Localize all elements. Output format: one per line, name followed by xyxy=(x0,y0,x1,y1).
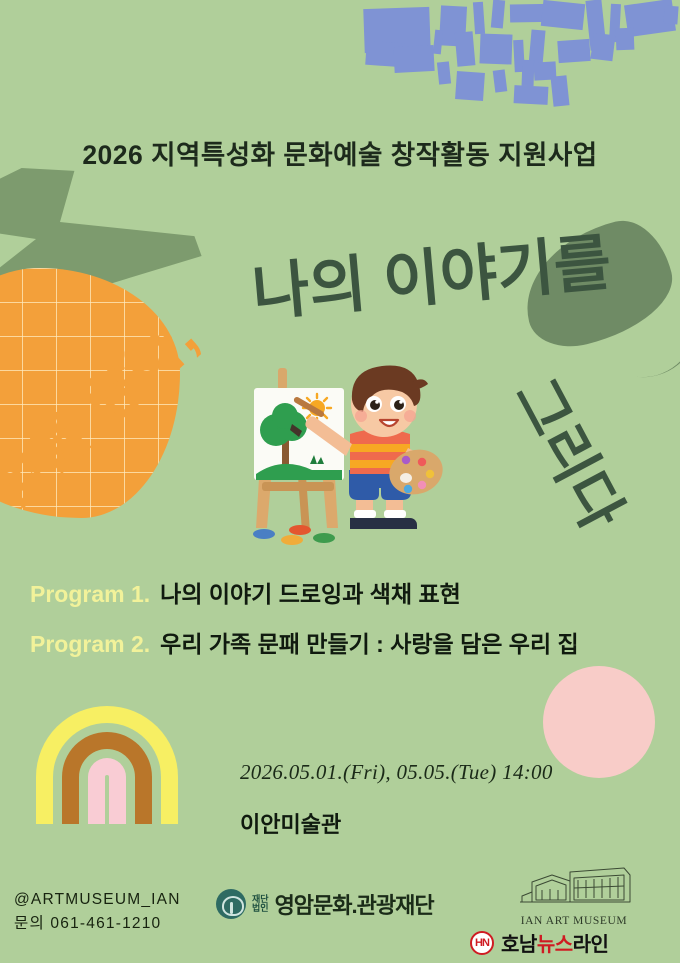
instagram-handle[interactable]: @ARTMUSEUM_IAN xyxy=(14,888,181,912)
program-row: Program 1. 나의 이야기 드로잉과 색채 표현 xyxy=(30,575,650,609)
event-venue: 이안미술관 xyxy=(240,807,553,839)
mosaic-decoration xyxy=(352,0,680,112)
foundation-emblem-icon xyxy=(216,889,246,919)
pink-circle-decoration xyxy=(543,666,655,778)
boy-painting-illustration xyxy=(234,352,450,548)
watermark-text-part-1: 호남 xyxy=(501,934,537,956)
watermark-text-part-2: 뉴스 xyxy=(537,934,573,956)
foundation-logo: 재단 법인 영암문화.관광재단 xyxy=(216,888,434,920)
program-2-tag: Program 2. xyxy=(30,631,150,658)
program-2-title: 우리 가족 문패 만들기 : 사랑을 담은 우리 집 xyxy=(160,625,579,659)
foundation-prefix: 재단 법인 xyxy=(252,895,269,914)
foundation-prefix-line-2: 법인 xyxy=(252,903,269,913)
museum-name: IAN ART MUSEUM xyxy=(512,915,636,927)
schedule-block: 2026.05.01.(Fri), 05.05.(Tue) 14:00 이안미술… xyxy=(240,760,553,839)
program-kicker: 2026 지역특성화 문화예술 창작활동 지원사업 xyxy=(0,133,680,172)
headline-part-right: 그리다 xyxy=(505,370,631,539)
phone-number[interactable]: 문의 061-461-1210 xyxy=(14,912,181,936)
museum-logo: IAN ART MUSEUM xyxy=(512,866,636,927)
poster-canvas: 2026 지역특성화 문화예술 창작활동 지원사업 힘을 담아, 나의 이야기를… xyxy=(0,0,680,963)
museum-building-icon xyxy=(512,866,636,908)
rainbow-arc-inner xyxy=(88,758,126,824)
leaf-stem-decoration xyxy=(637,315,680,383)
program-1-tag: Program 1. xyxy=(30,581,150,608)
foundation-name: 영암문화.관광재단 xyxy=(275,888,434,920)
program-1-title: 나의 이야기 드로잉과 색채 표현 xyxy=(160,575,461,609)
news-watermark: HN 호남뉴스라인 xyxy=(470,928,608,957)
rainbow-decoration xyxy=(36,706,178,824)
watermark-text: 호남뉴스라인 xyxy=(501,928,608,957)
hn-badge-icon: HN xyxy=(470,931,494,955)
watermark-text-part-3: 라인 xyxy=(573,934,609,956)
contact-block: @ARTMUSEUM_IAN 문의 061-461-1210 xyxy=(14,888,181,936)
event-date: 2026.05.01.(Fri), 05.05.(Tue) 14:00 xyxy=(240,760,553,785)
program-row: Program 2. 우리 가족 문패 만들기 : 사랑을 담은 우리 집 xyxy=(30,625,650,659)
program-list: Program 1. 나의 이야기 드로잉과 색채 표현 Program 2. … xyxy=(30,575,650,675)
